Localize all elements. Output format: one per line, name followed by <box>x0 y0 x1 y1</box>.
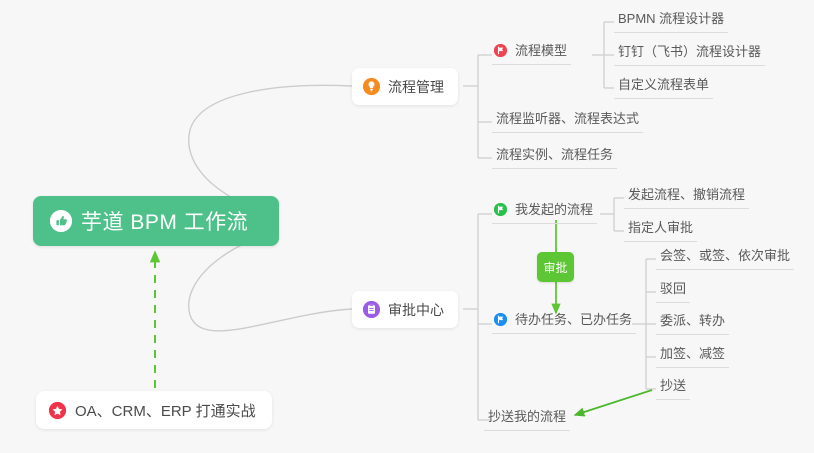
card-label-integration: OA、CRM、ERP 打通实战 <box>75 400 256 421</box>
node-cc[interactable]: 抄送 <box>656 377 690 400</box>
node-start-cancel-process[interactable]: 发起流程、撤销流程 <box>624 186 749 209</box>
node-label-process-model: 流程模型 <box>515 42 567 59</box>
node-designated-approver[interactable]: 指定人审批 <box>624 219 697 242</box>
node-dingtalk-feishu-designer[interactable]: 钉钉（飞书）流程设计器 <box>614 43 765 66</box>
node-my-initiated-process[interactable]: 我发起的流程 <box>492 201 597 224</box>
lightbulb-icon <box>363 78 380 95</box>
branch-node-approval-center[interactable]: 审批中心 <box>352 291 458 328</box>
branch-node-process-management[interactable]: 流程管理 <box>352 68 458 105</box>
node-countersign-orsign-sequential[interactable]: 会签、或签、依次审批 <box>656 247 794 270</box>
clipboard-icon <box>363 301 380 318</box>
node-label-my-initiated-process: 我发起的流程 <box>515 201 593 218</box>
node-label-todo-done-tasks: 待办任务、已办任务 <box>515 311 632 328</box>
node-todo-done-tasks[interactable]: 待办任务、已办任务 <box>492 311 636 334</box>
annotation-chip-approval: 审批 <box>537 252 574 282</box>
node-bpmn-designer[interactable]: BPMN 流程设计器 <box>614 10 728 33</box>
node-delegate-transfer[interactable]: 委派、转办 <box>656 312 729 335</box>
node-cc-to-me-process[interactable]: 抄送我的流程 <box>484 408 570 431</box>
arrow-cc-to-cc-mine <box>575 390 652 415</box>
flag-icon <box>494 203 507 216</box>
branch-label-process-management: 流程管理 <box>388 77 444 97</box>
root-node[interactable]: 芋道 BPM 工作流 <box>33 196 279 246</box>
mindmap-canvas: 芋道 BPM 工作流 流程管理 流程模型 BPMN 流程设计器 钉钉（飞书）流程… <box>0 0 814 453</box>
node-custom-process-form[interactable]: 自定义流程表单 <box>614 76 713 99</box>
link-root-to-process-management <box>189 85 352 214</box>
branch-label-approval-center: 审批中心 <box>388 300 444 320</box>
node-add-remove-sign[interactable]: 加签、减签 <box>656 345 729 368</box>
flag-icon <box>494 44 507 57</box>
node-process-model[interactable]: 流程模型 <box>492 42 571 65</box>
thumbs-up-icon <box>50 210 72 232</box>
link-root-to-approval-center <box>189 232 352 331</box>
root-label: 芋道 BPM 工作流 <box>81 206 248 236</box>
node-process-instance-task[interactable]: 流程实例、流程任务 <box>492 146 617 169</box>
star-icon <box>49 402 66 419</box>
card-node-integration[interactable]: OA、CRM、ERP 打通实战 <box>36 391 272 429</box>
node-process-listener-expression[interactable]: 流程监听器、流程表达式 <box>492 110 643 133</box>
node-reject[interactable]: 驳回 <box>656 280 690 303</box>
annotation-chip-label: 审批 <box>543 259 567 276</box>
flag-icon <box>494 313 507 326</box>
